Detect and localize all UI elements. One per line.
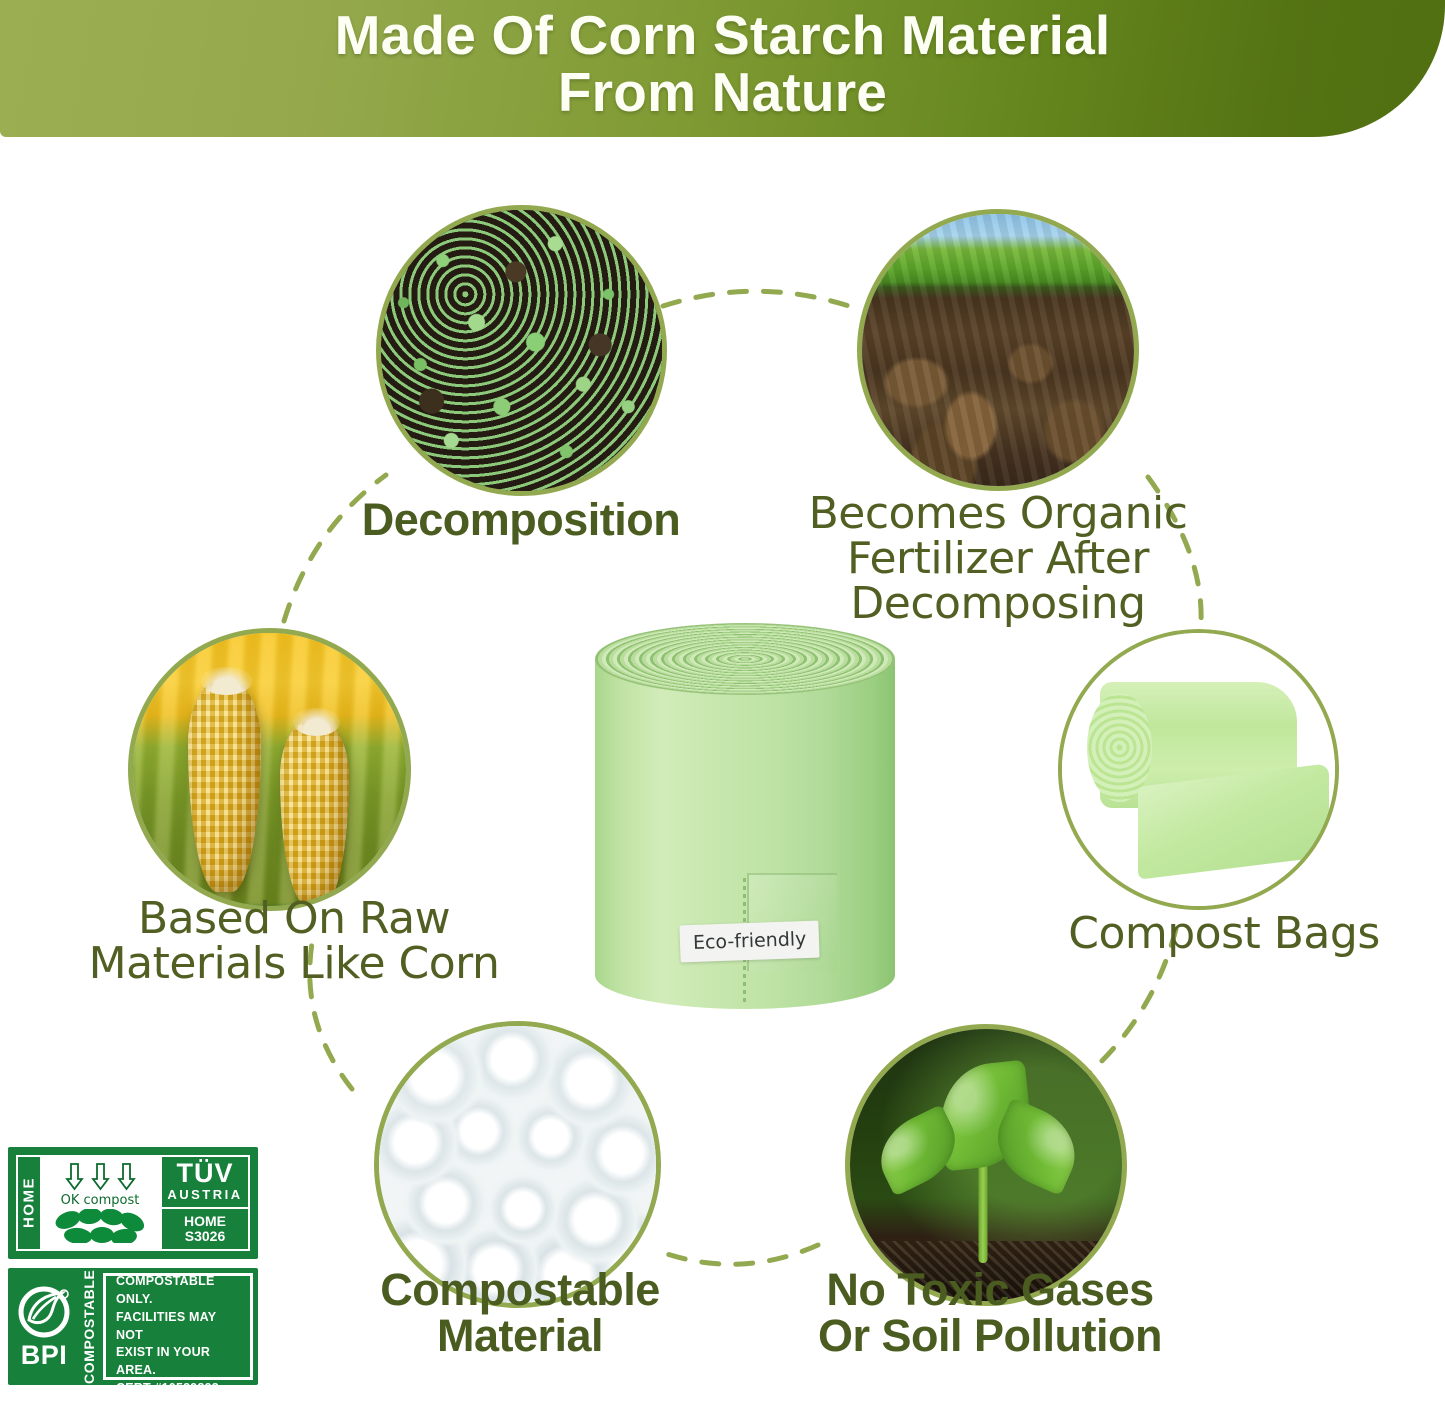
decomposition-label: Decomposition bbox=[296, 497, 746, 543]
tuv-logo: TÜV AUSTRIA bbox=[162, 1157, 248, 1209]
tuv-code-line1: HOME bbox=[184, 1214, 226, 1229]
bpi-wordmark: BPI bbox=[21, 1342, 68, 1369]
tuv-brand-text: TÜV bbox=[177, 1161, 234, 1187]
eco-friendly-label: Eco-friendly bbox=[679, 921, 820, 963]
tuv-region-text: AUSTRIA bbox=[167, 1187, 242, 1202]
tuv-home-vertical-text: HOME bbox=[18, 1157, 40, 1249]
tuv-code-line2: S3026 bbox=[185, 1229, 225, 1244]
no-toxic-gases-label: No Toxic Gases Or Soil Pollution bbox=[760, 1267, 1220, 1359]
tuv-austria-panel: TÜV AUSTRIA HOME S3026 bbox=[162, 1155, 250, 1251]
tuv-home-code: HOME S3026 bbox=[162, 1209, 248, 1249]
header-banner: Made Of Corn Starch Material From Nature bbox=[0, 0, 1445, 137]
bpi-compostable-vertical-text: COMPOSTABLE bbox=[79, 1273, 99, 1380]
center-product-roll: Eco-friendly bbox=[595, 623, 895, 1025]
compost-bags-label: Compost Bags bbox=[1014, 912, 1434, 957]
organic-fertilizer-label: Becomes Organic Fertilizer After Decompo… bbox=[748, 492, 1248, 627]
connector-notoxic-to-compostable bbox=[664, 1245, 818, 1264]
bpi-compostable-badge: BPI COMPOSTABLE COMMERCIALLY COMPOSTABLE… bbox=[8, 1268, 258, 1385]
bpi-leaf-circle-icon bbox=[16, 1285, 72, 1341]
ok-compost-text: OK compost bbox=[61, 1193, 140, 1208]
connector-decomposition-to-fertilizer bbox=[663, 291, 858, 309]
down-arrows-group bbox=[65, 1162, 136, 1192]
ok-compost-white-panel: OK compost bbox=[40, 1157, 160, 1249]
compostable-material-label: Compostable Material bbox=[300, 1267, 740, 1359]
certification-badges: HOME OK compost bbox=[8, 1147, 266, 1385]
translucent-resin-pellets-icon bbox=[379, 1026, 656, 1303]
raw-materials-corn-label: Based On Raw Materials Like Corn bbox=[44, 897, 544, 987]
soil-cross-section-with-grass-icon bbox=[862, 214, 1134, 486]
roll-top-coil bbox=[595, 623, 895, 695]
tuv-home-compost-badge: HOME OK compost bbox=[8, 1147, 258, 1259]
corn-cobs-in-field-icon bbox=[133, 633, 406, 906]
bpi-logo: BPI bbox=[13, 1273, 75, 1380]
down-arrow-icon bbox=[117, 1162, 136, 1192]
soil-with-green-bag-fragments-icon bbox=[381, 210, 662, 491]
decomposition-image bbox=[376, 205, 667, 496]
ok-compost-panel: HOME OK compost bbox=[16, 1155, 162, 1251]
page-title: Made Of Corn Starch Material From Nature bbox=[295, 7, 1151, 124]
green-bag-roll-icon bbox=[1062, 633, 1335, 906]
seedling-in-soil-icon bbox=[850, 1029, 1122, 1301]
compost-bags-image bbox=[1058, 629, 1339, 910]
down-arrow-icon bbox=[91, 1162, 110, 1192]
flower-icon bbox=[46, 1209, 154, 1243]
organic-fertilizer-image bbox=[857, 209, 1139, 491]
down-arrow-icon bbox=[65, 1162, 84, 1192]
corn-image bbox=[128, 628, 411, 911]
bpi-disclaimer-text: COMMERCIALLY COMPOSTABLE ONLY. FACILITIE… bbox=[116, 1256, 246, 1398]
bpi-disclaimer-box: COMMERCIALLY COMPOSTABLE ONLY. FACILITIE… bbox=[103, 1273, 253, 1380]
